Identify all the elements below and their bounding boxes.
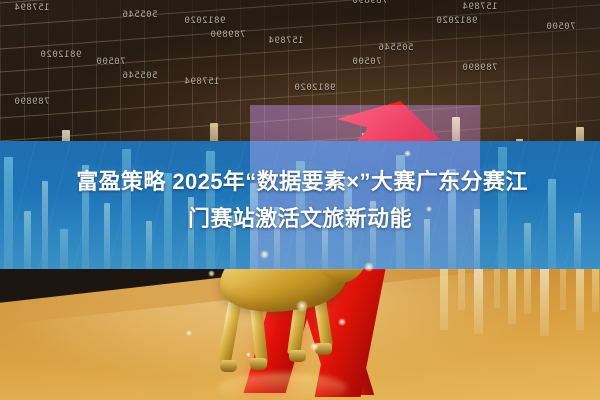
ticker-value: 70500 bbox=[352, 57, 382, 67]
news-banner: 1578945055469812020705007898901578945055… bbox=[0, 0, 600, 400]
bar bbox=[230, 215, 236, 269]
grid-line bbox=[0, 24, 600, 76]
ticker-value: 9812020 bbox=[294, 83, 335, 93]
bar bbox=[524, 223, 531, 269]
ticker-value: 9812020 bbox=[40, 50, 81, 60]
bar bbox=[592, 262, 599, 312]
ticker-value: 9812020 bbox=[436, 16, 477, 26]
ticker-value: 157894 bbox=[462, 2, 498, 12]
bar bbox=[164, 173, 172, 269]
bar bbox=[474, 209, 480, 269]
bar bbox=[82, 165, 89, 269]
bar bbox=[424, 219, 430, 269]
bar bbox=[448, 169, 456, 269]
bull-hoof bbox=[250, 358, 267, 370]
bull-floor-reflection bbox=[217, 373, 347, 400]
bull-hoof bbox=[220, 360, 237, 372]
bar bbox=[574, 213, 581, 269]
bar bbox=[274, 207, 280, 269]
bar bbox=[42, 181, 48, 269]
ticker-value: 789890 bbox=[210, 30, 246, 40]
bar bbox=[322, 225, 328, 269]
ticker-value: 505546 bbox=[122, 71, 158, 81]
ticker-value: 505546 bbox=[122, 10, 158, 20]
ticker-value: 157894 bbox=[184, 77, 220, 87]
bull-leg bbox=[250, 303, 268, 366]
bar bbox=[396, 155, 405, 269]
blue-overlay-panel bbox=[0, 141, 600, 269]
ticker-value: 70500 bbox=[546, 22, 576, 32]
bar bbox=[146, 221, 152, 269]
bar bbox=[524, 262, 531, 314]
bar bbox=[24, 211, 31, 269]
bar bbox=[206, 151, 215, 269]
ticker-value: 157894 bbox=[268, 36, 304, 46]
ticker-value: 505546 bbox=[378, 43, 414, 53]
bar bbox=[370, 201, 376, 269]
bar bbox=[296, 161, 305, 269]
bar bbox=[104, 203, 110, 269]
bar bbox=[60, 229, 68, 269]
ticker-value: 157894 bbox=[14, 3, 50, 13]
ticker-value: 70500 bbox=[96, 57, 126, 67]
bull-leg bbox=[218, 300, 242, 365]
bar bbox=[122, 149, 131, 269]
ticker-value: 789890 bbox=[14, 97, 50, 107]
bar bbox=[344, 177, 352, 269]
bar bbox=[188, 197, 194, 269]
bull-hoof bbox=[315, 343, 332, 355]
bar bbox=[498, 147, 507, 269]
ticker-value: 789890 bbox=[352, 0, 388, 6]
bar bbox=[548, 179, 556, 269]
ticker-value: 789890 bbox=[462, 63, 498, 73]
bar bbox=[560, 264, 566, 310]
ticker-value: 9812020 bbox=[184, 16, 225, 26]
bar bbox=[494, 264, 500, 308]
bar bbox=[250, 183, 258, 269]
bull-hoof bbox=[289, 350, 306, 362]
bar bbox=[4, 157, 13, 269]
